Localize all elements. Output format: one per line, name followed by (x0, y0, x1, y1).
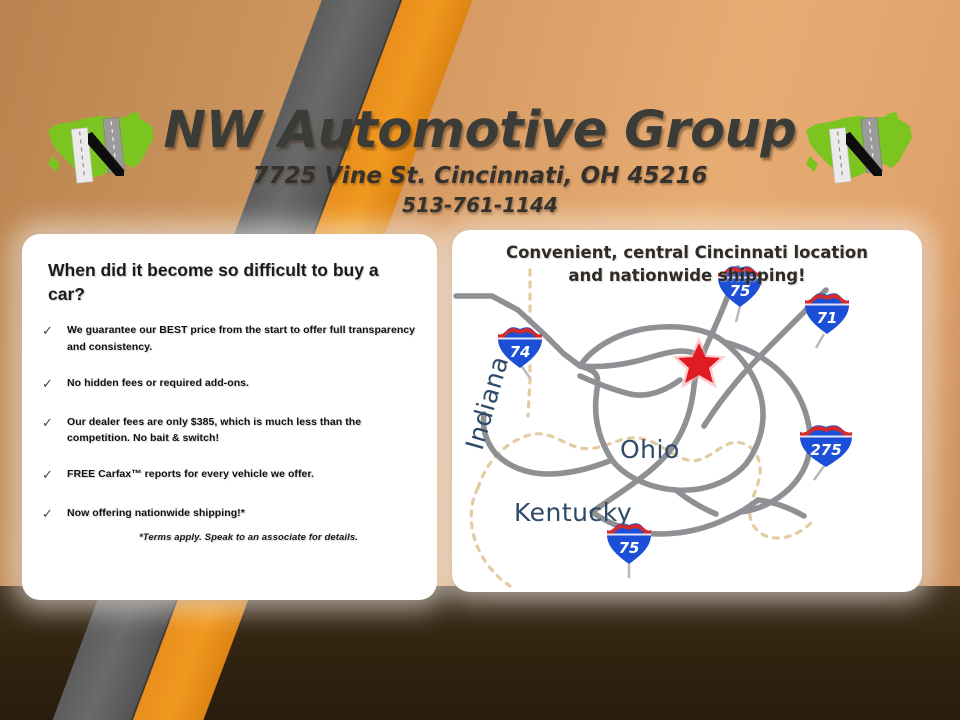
map-label-ohio: Ohio (620, 435, 680, 464)
list-item-label: No hidden fees or required add-ons. (67, 375, 249, 394)
map-title-line-1: Convenient, central Cincinnati location (480, 241, 894, 264)
map-panel: Indiana Ohio Kentucky 74 75 (452, 230, 922, 592)
list-item: ✓ We guarantee our BEST price from the s… (42, 322, 423, 355)
logo-right (800, 104, 918, 190)
list-item-label: FREE Carfax™ reports for every vehicle w… (67, 466, 314, 485)
list-item-label: We guarantee our BEST price from the sta… (67, 322, 423, 355)
left-panel-heading: When did it become so difficult to buy a… (22, 234, 437, 306)
check-icon: ✓ (42, 322, 54, 355)
terms-footnote: *Terms apply. Speak to an associate for … (22, 530, 437, 543)
i275-shield-number: 275 (797, 441, 855, 459)
check-icon: ✓ (42, 375, 54, 394)
i74-shield: 74 (495, 324, 545, 374)
map-title-line-2: and nationwide shipping! (480, 264, 894, 287)
list-item-label: Our dealer fees are only $385, which is … (67, 414, 423, 447)
i275-shield: 275 (797, 422, 855, 473)
benefits-list: ✓ We guarantee our BEST price from the s… (22, 322, 437, 524)
logo-left (42, 104, 160, 190)
i75-shield-south-number: 75 (604, 539, 654, 557)
check-icon: ✓ (42, 414, 54, 447)
i71-shield-number: 71 (802, 309, 852, 327)
check-icon: ✓ (42, 505, 54, 524)
i75-shield-south: 75 (604, 520, 654, 570)
left-content-panel: When did it become so difficult to buy a… (22, 234, 437, 600)
slide-canvas: NW Automotive Group 7725 Vine St. Cincin… (0, 0, 960, 720)
list-item: ✓ Now offering nationwide shipping!* (42, 505, 423, 524)
i71-shield: 71 (802, 290, 852, 340)
map-panel-title: Convenient, central Cincinnati location … (452, 230, 922, 288)
list-item: ✓ FREE Carfax™ reports for every vehicle… (42, 466, 423, 485)
list-item-label: Now offering nationwide shipping!* (67, 505, 245, 524)
check-icon: ✓ (42, 466, 54, 485)
list-item: ✓ No hidden fees or required add-ons. (42, 375, 423, 394)
list-item: ✓ Our dealer fees are only $385, which i… (42, 414, 423, 447)
i74-shield-number: 74 (495, 343, 545, 361)
